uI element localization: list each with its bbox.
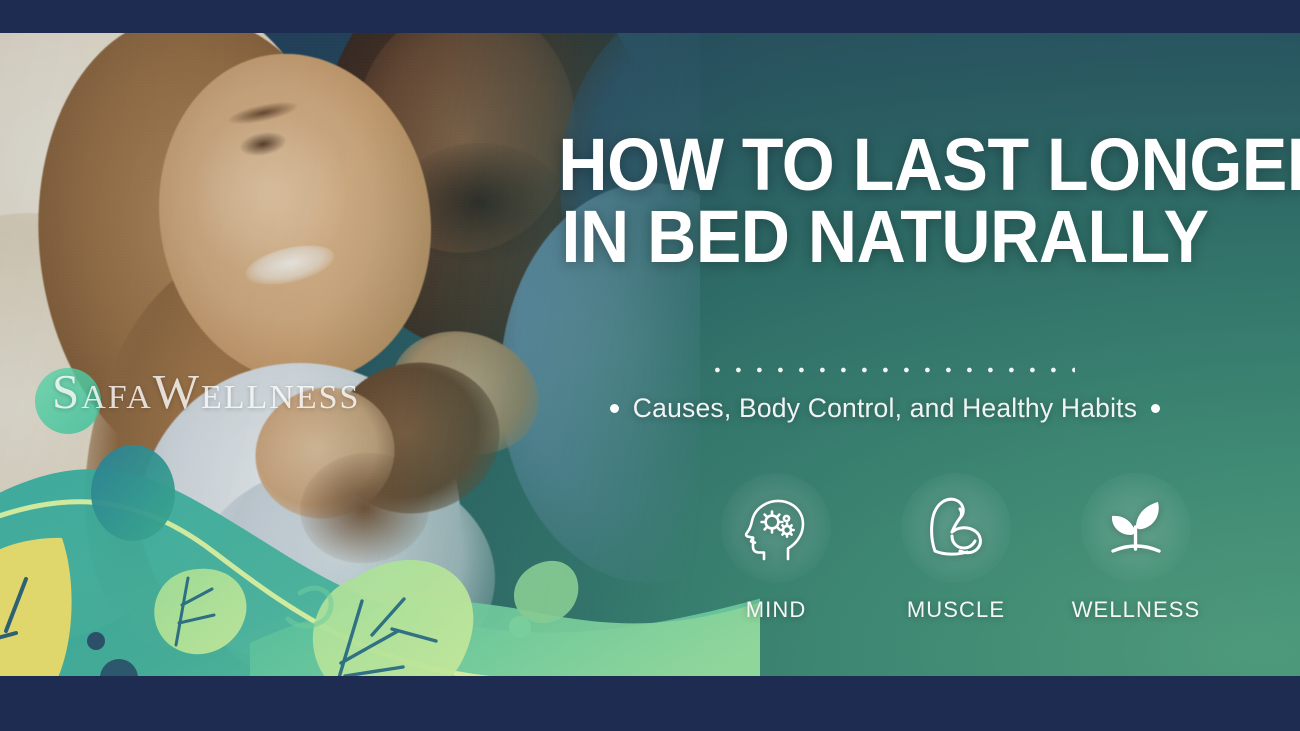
green-circle-small — [35, 368, 101, 434]
feature-item-mind[interactable]: MIND — [700, 473, 852, 623]
feature-item-wellness[interactable]: WELLNESS — [1060, 473, 1212, 623]
icon-halo-muscle — [901, 473, 1011, 583]
large-leaf — [313, 560, 473, 676]
bullet-dot-left — [610, 404, 619, 413]
head-gears-icon — [739, 491, 813, 565]
icon-halo-wellness — [1081, 473, 1191, 583]
bottom-frame-bar — [0, 676, 1300, 731]
teal-circle-large — [91, 445, 175, 541]
title-line-2: IN BED NATURALLY — [558, 201, 1211, 273]
title-line-1: HOW TO LAST LONGER — [558, 129, 1211, 201]
feature-label-mind: MIND — [700, 597, 852, 623]
navy-dot-small — [87, 632, 105, 650]
dotted-divider — [715, 365, 1075, 375]
page-title: HOW TO LAST LONGER IN BED NATURALLY — [558, 129, 1211, 273]
icon-halo-mind — [721, 473, 831, 583]
feature-label-wellness: WELLNESS — [1060, 597, 1212, 623]
banner-content: HOW TO LAST LONGER IN BED NATURALLY Caus… — [530, 33, 1300, 676]
green-dot-accent — [509, 616, 531, 638]
feature-item-muscle[interactable]: MUSCLE — [880, 473, 1032, 623]
banner-canvas: SafaWellness HOW TO LAST LONGER IN BED N… — [0, 0, 1300, 731]
feature-icon-row: MIND — [700, 473, 1240, 623]
flexed-bicep-icon — [919, 491, 993, 565]
yellow-leaf — [0, 538, 72, 676]
subtitle-text: Causes, Body Control, and Healthy Habits — [633, 393, 1137, 423]
sprout-plant-icon — [1099, 491, 1173, 565]
top-frame-bar — [0, 0, 1300, 33]
bullet-dot-right — [1151, 404, 1160, 413]
feature-label-muscle: MUSCLE — [880, 597, 1032, 623]
hero-banner: SafaWellness HOW TO LAST LONGER IN BED N… — [0, 33, 1300, 676]
subtitle: Causes, Body Control, and Healthy Habits — [530, 393, 1240, 424]
